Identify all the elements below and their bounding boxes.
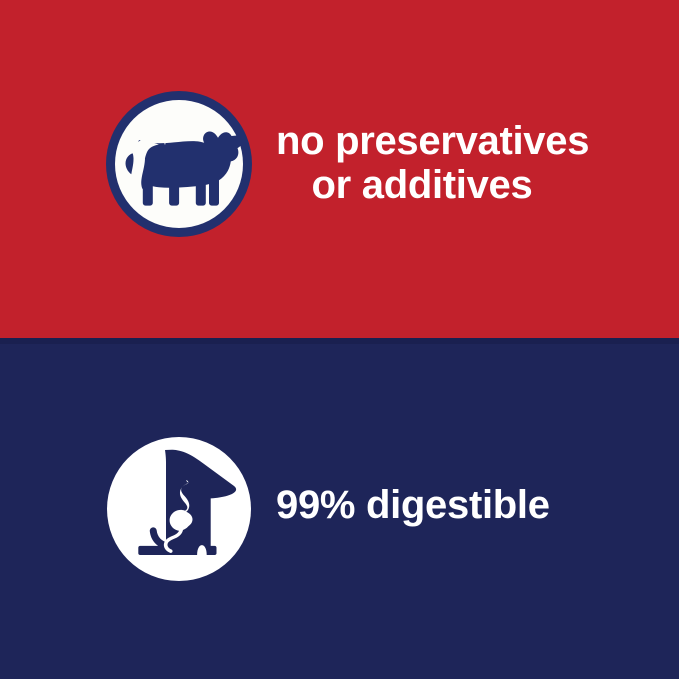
benefit-label-line-1: no preservatives	[276, 119, 636, 163]
benefit-label-line-1: 99% digestible	[276, 483, 550, 527]
benefit-label-line-2: or additives	[276, 163, 568, 207]
benefits-board: no preservatives or additives 99% digest…	[0, 0, 679, 679]
benefit-label-no-preservatives: no preservatives or additives	[276, 119, 636, 207]
benefit-label-digestible: 99% digestible	[276, 482, 550, 528]
dog-digestion-badge-icon	[104, 434, 254, 584]
cow-sparkle-badge-icon	[104, 89, 254, 239]
